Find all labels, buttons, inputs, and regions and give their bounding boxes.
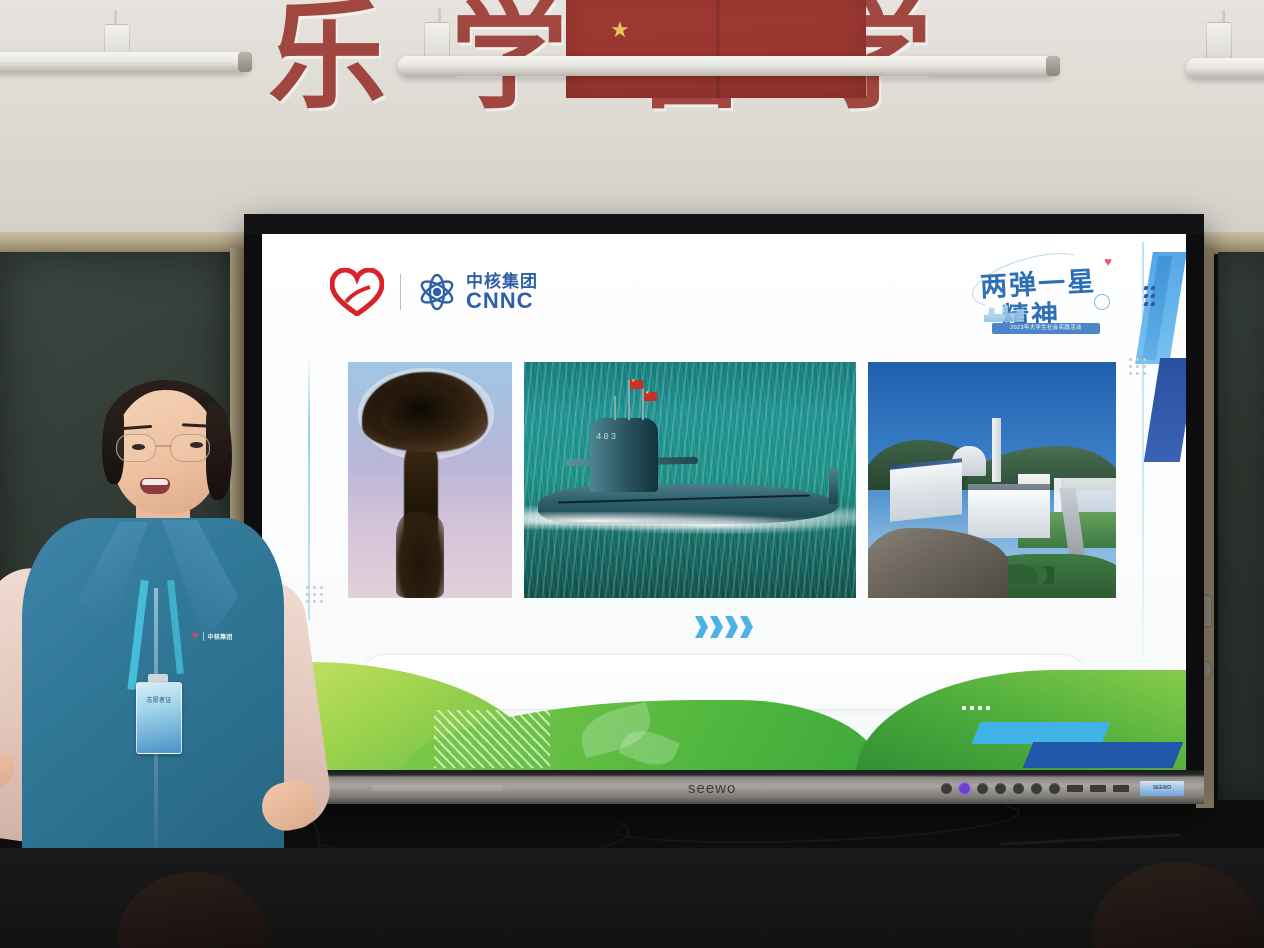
photo-mushroom-cloud[interactable]: [348, 362, 512, 598]
cnnc-chinese-name: 中核集团: [466, 273, 538, 290]
classroom-scene: 乐学善学: [0, 0, 1264, 948]
submarine-flag-icon: [630, 380, 643, 389]
ir-sensor-strip: [372, 785, 502, 791]
slide-footer-decor: [262, 662, 1186, 774]
panel-button-input[interactable]: [1031, 783, 1042, 794]
chevron-arrows: [695, 616, 753, 638]
sea-surface: [524, 362, 856, 598]
panel-port-usb[interactable]: [1067, 785, 1083, 792]
glasses-bridge: [156, 445, 172, 447]
submarine-mast: [614, 396, 616, 420]
flag-fold: [716, 0, 720, 98]
tube-cap-1: [238, 52, 252, 72]
vest-logo-divider: [203, 632, 204, 641]
panel-button-home[interactable]: [941, 783, 952, 794]
footer-stripe-pattern: [434, 710, 550, 768]
footer-plate-navy: [1023, 742, 1184, 768]
mushroom-stem-lower: [396, 512, 444, 598]
chinese-flag: [566, 0, 866, 98]
presentation-slide[interactable]: 中核集团 CNNC ♥ 两弹一星 精神 2023年大学生社会实践活动: [262, 234, 1186, 774]
display-bezel-bottom: seewo SEEWO: [244, 770, 1204, 804]
glasses-lens-right: [170, 434, 210, 462]
panel-button-menu[interactable]: [977, 783, 988, 794]
sea-marker-buoy: [829, 468, 838, 504]
panel-button-volume-down[interactable]: [995, 783, 1006, 794]
atom-icon: [417, 272, 457, 312]
submarine-sail: [590, 418, 658, 492]
photo-nuclear-power-plant[interactable]: [868, 362, 1116, 598]
plant-chimney: [992, 418, 1001, 482]
tube-cap-2: [1046, 56, 1060, 76]
panel-port-aux[interactable]: [1113, 785, 1129, 792]
chevron-right-icon: [740, 616, 753, 638]
photo-nuclear-submarine[interactable]: 403: [524, 362, 856, 598]
panel-button-volume-up[interactable]: [1013, 783, 1024, 794]
plant-main-building: [968, 490, 1050, 538]
chevron-right-icon: [695, 616, 708, 638]
vest-heart-icon: ♥: [192, 630, 199, 642]
plant-trees: [1008, 554, 1054, 584]
presenter-teeth: [142, 479, 168, 485]
panel-sticker-label: SEEWO: [1140, 781, 1184, 796]
title-ring-decor: [1094, 294, 1110, 310]
submarine-wake: [524, 512, 844, 534]
plant-turbine-hall: [890, 462, 962, 522]
seewo-interactive-display[interactable]: 中核集团 CNNC ♥ 两弹一星 精神 2023年大学生社会实践活动: [244, 214, 1204, 804]
seewo-brand-label: seewo: [688, 780, 736, 797]
cnnc-english-name: CNNC: [466, 290, 538, 312]
logo-divider: [400, 274, 401, 310]
vest-logo-text: 中核集团: [208, 632, 233, 641]
footer-dot-grid-icon: [962, 706, 990, 710]
slide-title-artwork: ♥ 两弹一星 精神 2023年大学生社会实践活动: [976, 254, 1112, 332]
badge-text: 志愿者证: [137, 697, 181, 705]
display-bezel-top: [244, 214, 1204, 234]
display-screen[interactable]: 中核集团 CNNC ♥ 两弹一星 精神 2023年大学生社会实践活动: [262, 234, 1186, 774]
submarine-hull-number: 403: [596, 432, 618, 442]
dash-marks-right-icon: [1144, 286, 1154, 306]
decor-plate-dark-blue: [1144, 358, 1186, 462]
footer-plate-blue: [972, 722, 1111, 744]
slide-header-logos: 中核集团 CNNC: [330, 268, 538, 316]
panel-button-freeze[interactable]: [1049, 783, 1060, 794]
presenter-id-badge: 志愿者证: [136, 682, 182, 754]
panel-button-power[interactable]: [959, 783, 970, 794]
dot-grid-right-icon: [1129, 358, 1146, 375]
chevron-right-icon: [725, 616, 738, 638]
glasses-lens-left: [116, 434, 156, 462]
tube-light-3: [1186, 58, 1264, 78]
display-control-panel[interactable]: SEEWO: [941, 778, 1184, 798]
vest-chest-logo: ♥ 中核集团: [192, 630, 233, 642]
panel-port-hdmi[interactable]: [1090, 785, 1106, 792]
tube-light-2: [398, 56, 1058, 76]
back-wall: 乐学善学: [0, 0, 1264, 240]
title-heart-icon: ♥: [1104, 254, 1112, 269]
presenter-glasses: [114, 434, 218, 462]
mushroom-cap-core: [382, 388, 466, 440]
heart-hand-logo-icon: [330, 268, 384, 316]
cnnc-logo: 中核集团 CNNC: [417, 272, 538, 312]
chalkboard-right: [1218, 252, 1264, 800]
photo-strip: 403: [348, 362, 1116, 598]
submarine-flag-icon: [644, 392, 657, 401]
title-banner-text: 2023年大学生社会实践活动: [992, 323, 1100, 334]
chevron-right-icon: [710, 616, 723, 638]
tube-light-1: [0, 52, 250, 72]
